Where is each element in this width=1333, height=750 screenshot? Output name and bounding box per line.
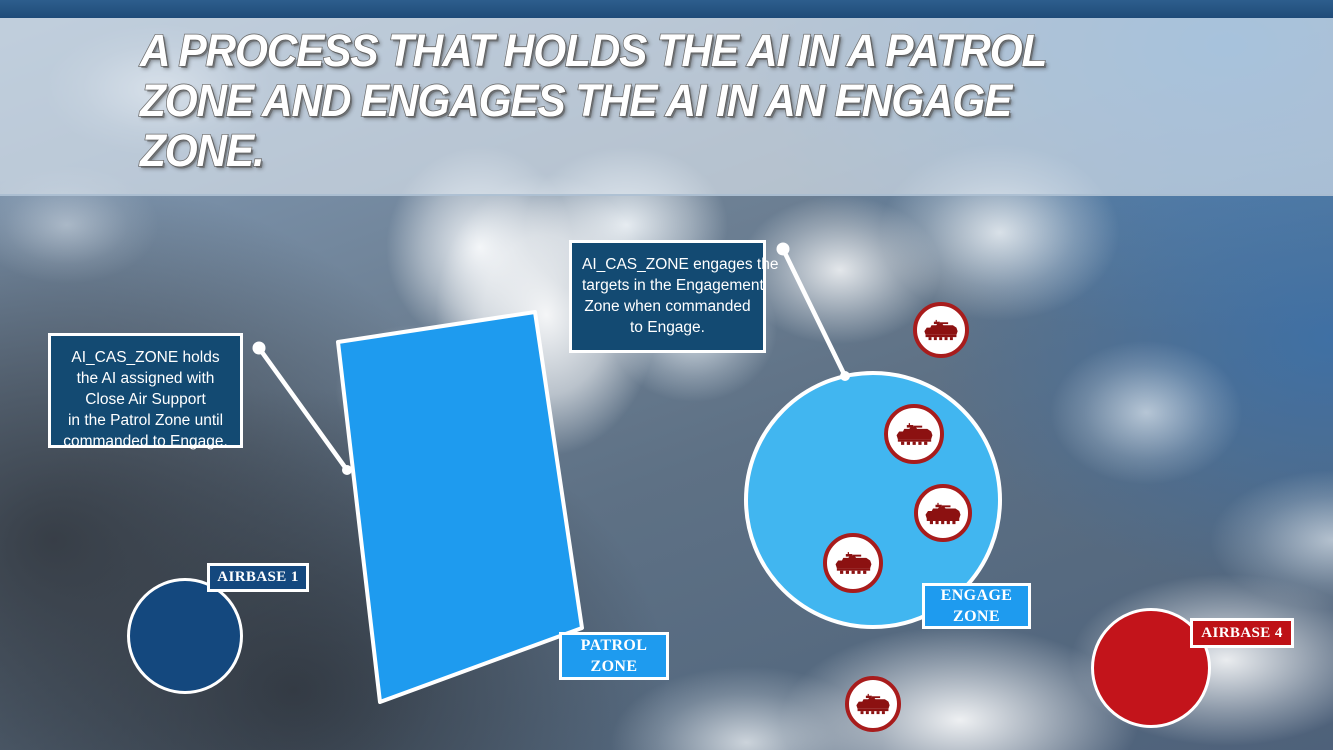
engage-zone-label-line-2: ZONE — [953, 606, 1000, 627]
slide-canvas: A PROCESS THAT HOLDS THE AI IN A PATROL … — [0, 0, 1333, 750]
tank-marker-1[interactable] — [913, 302, 969, 358]
engage-zone-label[interactable]: ENGAGE ZONE — [922, 583, 1031, 629]
tank-marker-5[interactable] — [845, 676, 901, 732]
tank-marker-4[interactable] — [823, 533, 883, 593]
engage-callout-line-3: Zone when commanded — [582, 296, 753, 317]
patrol-callout-line-1: AI_CAS_ZONE holds — [61, 347, 230, 368]
patrol-callout-line-5: commanded to Engage. — [61, 431, 230, 452]
airbase-4-label-text: AIRBASE 4 — [1201, 625, 1283, 642]
patrol-zone-label[interactable]: PATROL ZONE — [559, 632, 669, 680]
patrol-zone-label-line-1: PATROL — [581, 635, 648, 656]
patrol-callout-line-2: the AI assigned with — [61, 368, 230, 389]
patrol-callout-line-3: Close Air Support — [61, 389, 230, 410]
airbase-1-label[interactable]: AIRBASE 1 — [207, 563, 309, 592]
patrol-callout-line-4: in the Patrol Zone until — [61, 410, 230, 431]
airbase-1-label-text: AIRBASE 1 — [217, 569, 299, 586]
tank-marker-2[interactable] — [884, 404, 944, 464]
armored-vehicle-icon — [854, 692, 892, 716]
armored-vehicle-icon — [833, 550, 874, 576]
engage-callout-box[interactable]: AI_CAS_ZONE engages the targets in the E… — [569, 240, 766, 353]
airbase-1-shape[interactable] — [127, 578, 243, 694]
engage-callout-line-4: to Engage. — [582, 317, 753, 338]
tank-marker-3[interactable] — [914, 484, 972, 542]
armored-vehicle-icon — [922, 318, 960, 342]
patrol-callout-box[interactable]: AI_CAS_ZONE holds the AI assigned with C… — [48, 333, 243, 448]
engage-zone-label-line-1: ENGAGE — [941, 585, 1013, 606]
engage-callout-line-2: targets in the Engagement — [582, 275, 753, 296]
armored-vehicle-icon — [894, 421, 935, 447]
airbase-4-label[interactable]: AIRBASE 4 — [1190, 618, 1294, 648]
patrol-zone-label-line-2: ZONE — [591, 656, 638, 677]
patrol-zone-shape[interactable] — [328, 310, 583, 700]
armored-vehicle-icon — [923, 501, 963, 526]
engage-callout-line-1: AI_CAS_ZONE engages the — [582, 254, 753, 275]
